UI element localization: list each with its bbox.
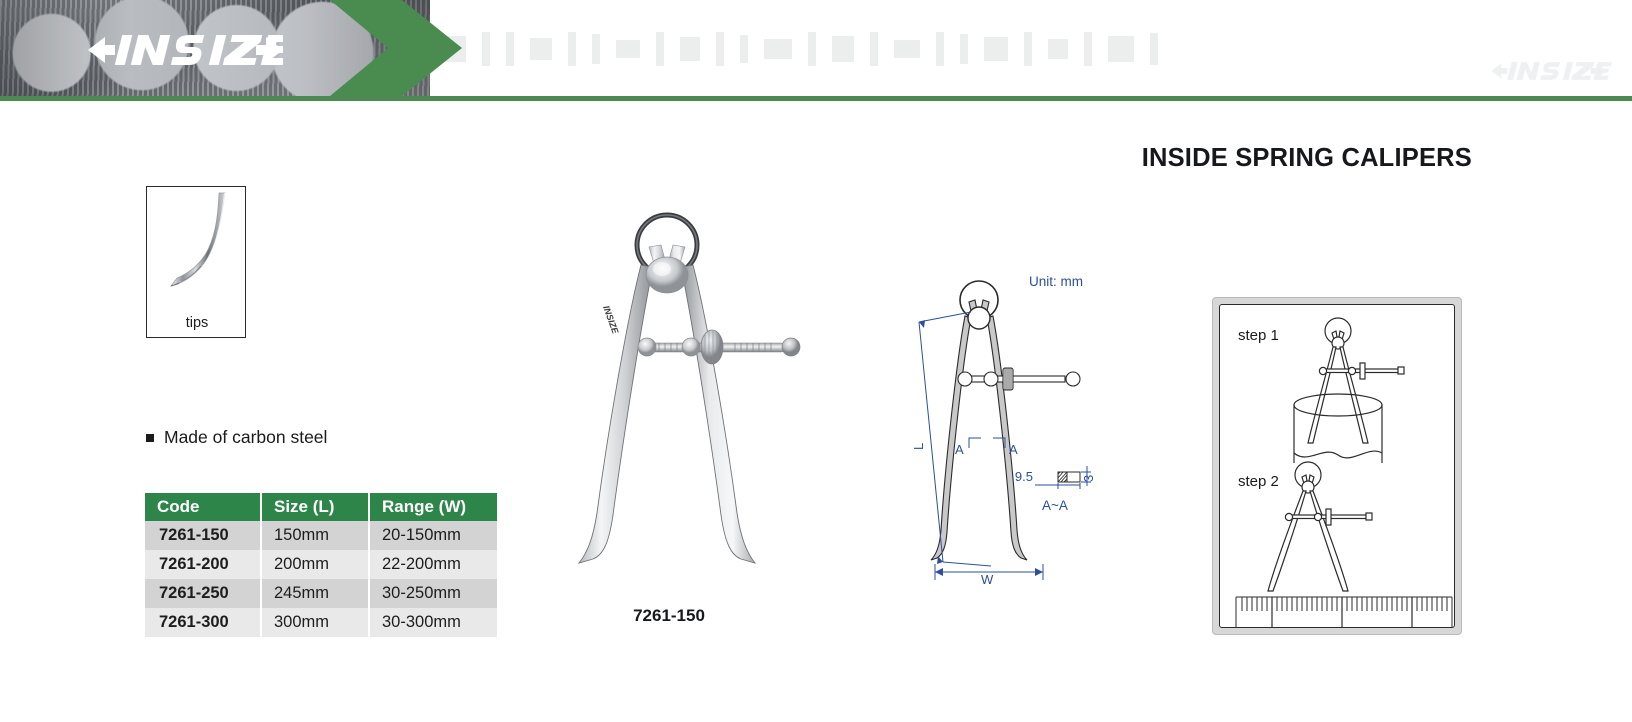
table-row: 7261-300 300mm 30-300mm [145, 608, 497, 637]
tips-detail-box: tips [146, 186, 246, 338]
header-green-rule [0, 96, 1632, 101]
usage-steps-panel: step 1 step 2 [1212, 297, 1462, 635]
caliper-tip-photo [147, 187, 247, 307]
product-photograph: INSIZE [545, 195, 845, 585]
cell-range: 30-300mm [369, 608, 497, 637]
section-mark-left: A [955, 442, 964, 457]
feature-item: Made of carbon steel [146, 427, 327, 448]
cell-code: 7261-250 [145, 579, 261, 608]
cell-size: 245mm [261, 579, 369, 608]
step-1-label: step 1 [1238, 327, 1279, 344]
column-header-size: Size (L) [261, 493, 369, 521]
dim-L-label: L [911, 443, 926, 450]
cell-code: 7261-300 [145, 608, 261, 637]
cell-range: 30-250mm [369, 579, 497, 608]
feature-text: Made of carbon steel [164, 427, 327, 448]
column-header-code: Code [145, 493, 261, 521]
specifications-table: Code Size (L) Range (W) 7261-150 150mm 2… [145, 493, 497, 637]
section-height-label: 3 [1081, 475, 1096, 482]
section-detail: 9.5 3 A~A [1015, 466, 1096, 513]
cell-range: 20-150mm [369, 521, 497, 550]
product-code-caption: 7261-150 [545, 606, 793, 626]
page-title: INSIDE SPRING CALIPERS [1142, 144, 1472, 173]
cell-size: 200mm [261, 550, 369, 579]
insize-watermark-logo [1474, 58, 1624, 84]
section-mark-right: A [1009, 442, 1018, 457]
technical-drawing: L A A W 9.5 3 A~A [895, 270, 1125, 600]
cell-code: 7261-200 [145, 550, 261, 579]
table-row: 7261-200 200mm 22-200mm [145, 550, 497, 579]
svg-text:INSIZE: INSIZE [601, 304, 621, 336]
cell-range: 22-200mm [369, 550, 497, 579]
insize-logo [88, 28, 283, 72]
section-width-label: 9.5 [1015, 469, 1033, 484]
table-row: 7261-150 150mm 20-150mm [145, 521, 497, 550]
column-header-range: Range (W) [369, 493, 497, 521]
cell-code: 7261-150 [145, 521, 261, 550]
table-header-row: Code Size (L) Range (W) [145, 493, 497, 521]
cell-size: 300mm [261, 608, 369, 637]
usage-steps-frame: step 1 step 2 [1219, 304, 1455, 628]
step-2-illustration [1230, 457, 1455, 628]
table-row: 7261-250 245mm 30-250mm [145, 579, 497, 608]
tips-label: tips [147, 315, 247, 331]
dim-W-label: W [981, 572, 994, 587]
step-1-illustration [1280, 313, 1455, 463]
page-header [0, 0, 1632, 104]
section-title-label: A~A [1042, 498, 1068, 513]
header-watermark-pattern [440, 26, 1500, 72]
square-bullet-icon [146, 434, 154, 442]
cell-size: 150mm [261, 521, 369, 550]
